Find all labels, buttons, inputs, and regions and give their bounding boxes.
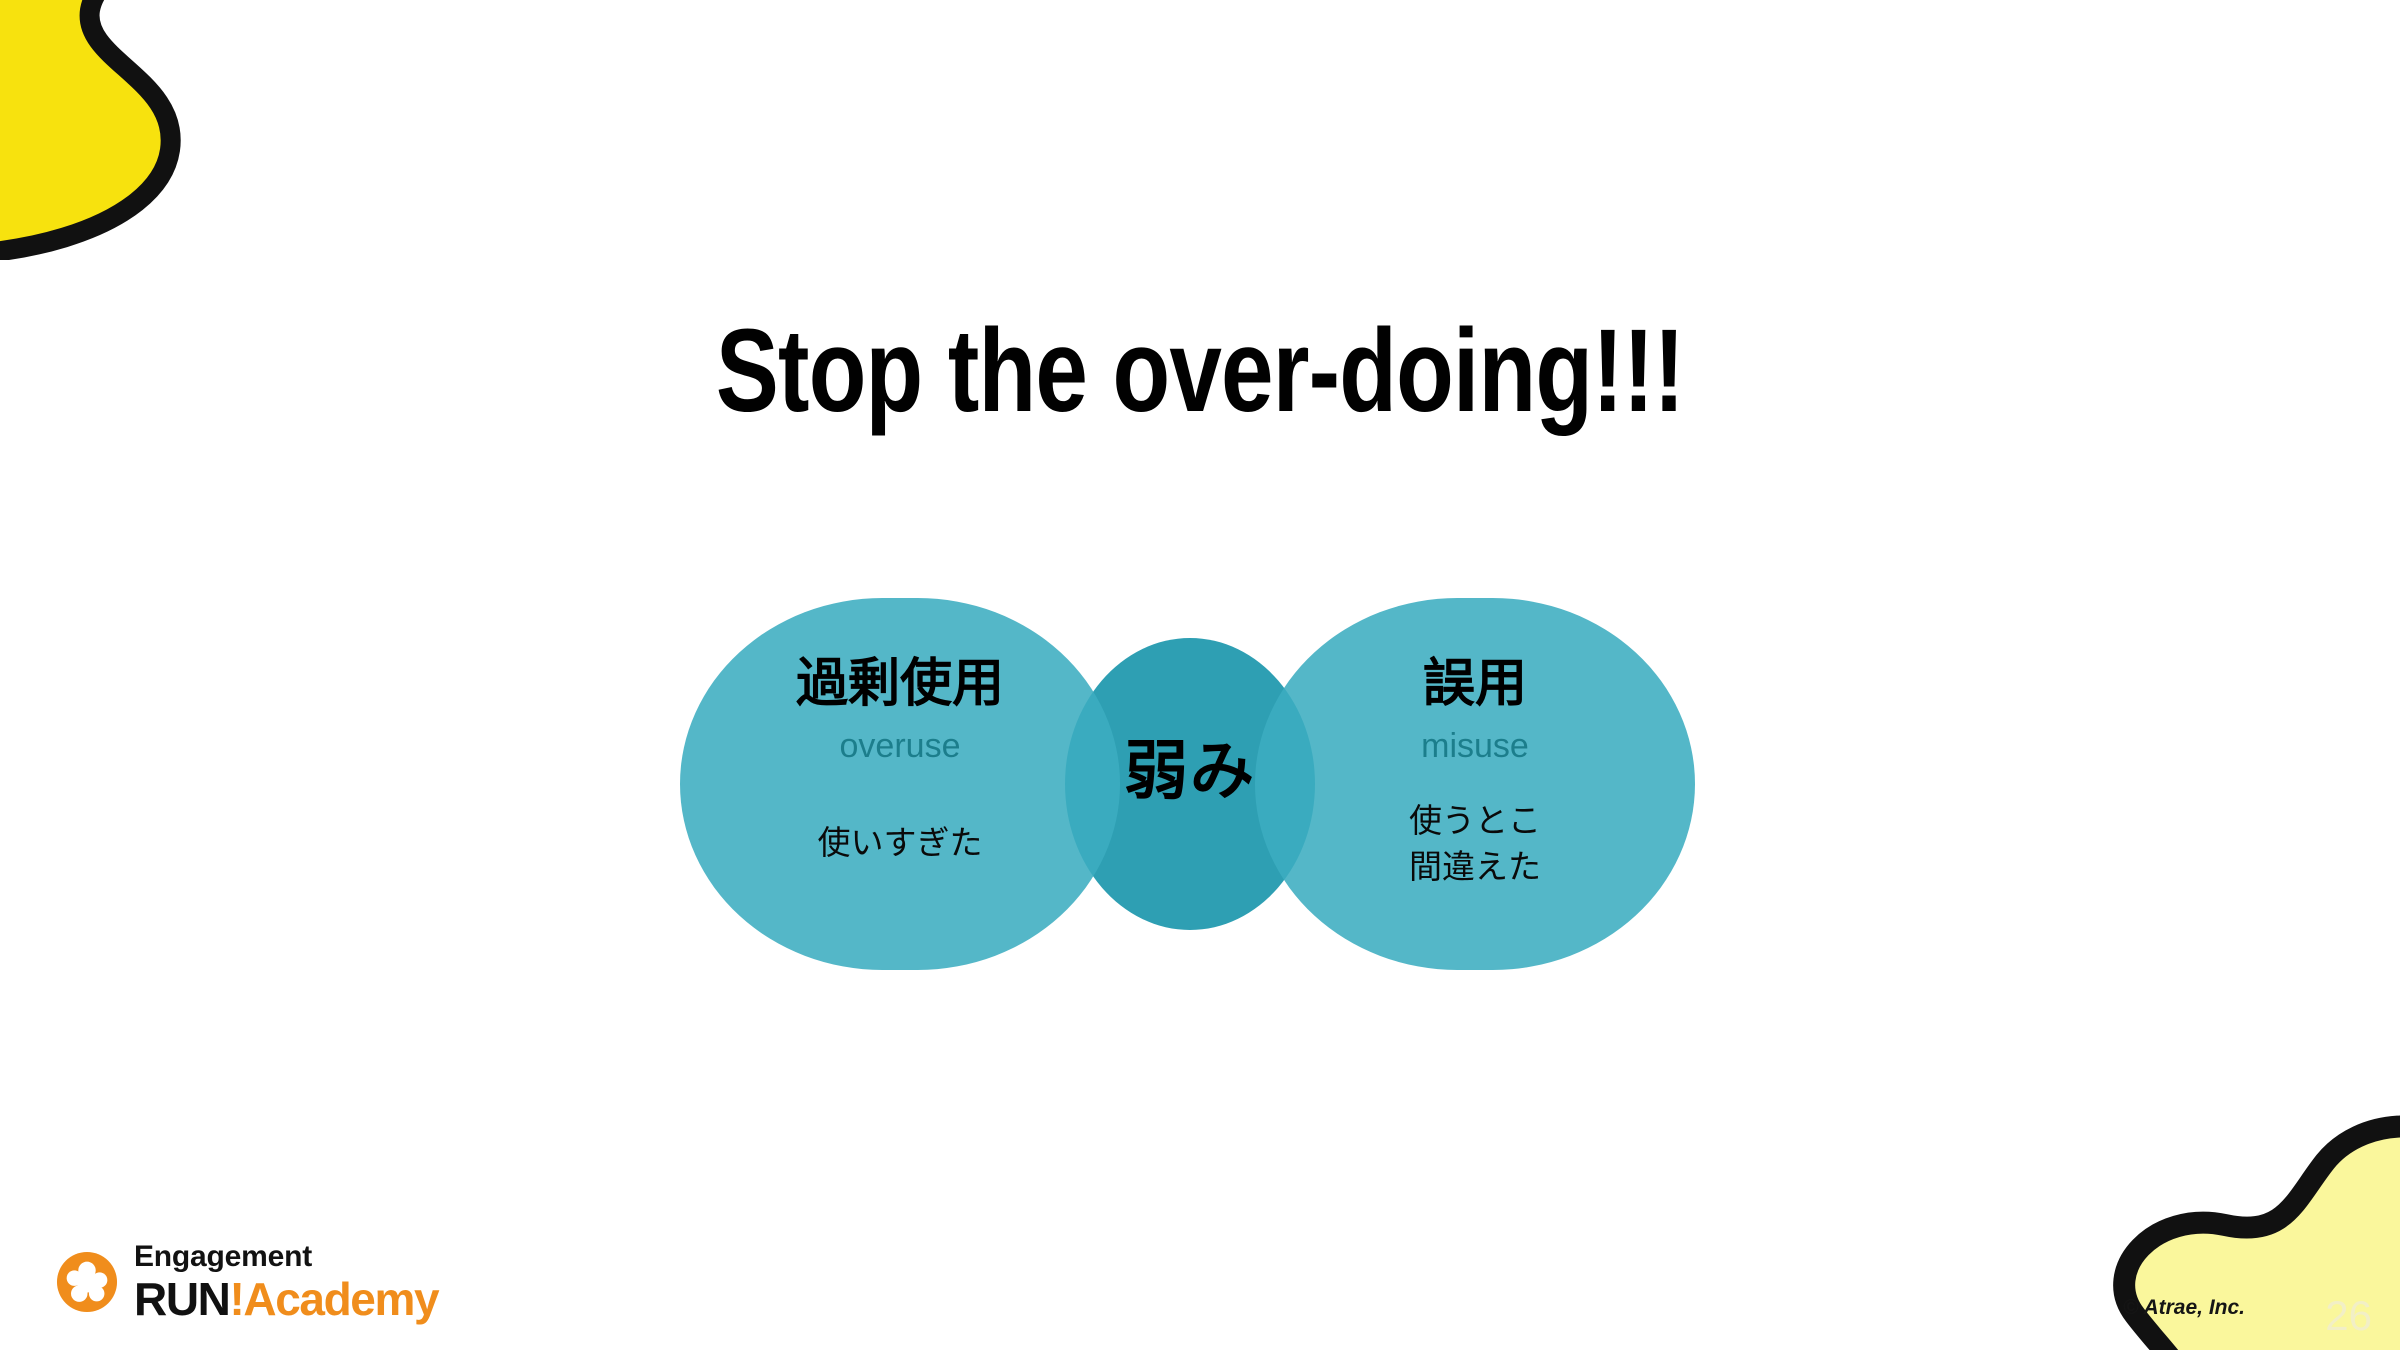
brand-logo-bang: ! — [229, 1273, 243, 1325]
flower-mark-icon — [56, 1251, 118, 1313]
brand-logo-run-text: RUN — [134, 1273, 229, 1325]
brand-logo: Engagement RUN!Academy — [56, 1242, 438, 1322]
brand-logo-academy-text: Academy — [243, 1273, 438, 1325]
page-number: 26 — [2325, 1292, 2372, 1340]
decorative-blob-top-left — [0, 0, 290, 260]
slide-root: Stop the over-doing!!! 過剰使用 overuse 使いすぎ… — [0, 0, 2400, 1350]
venn-left-subtitle: overuse — [680, 726, 1120, 767]
page-title: Stop the over-doing!!! — [240, 303, 2160, 439]
venn-left-body: 使いすぎた — [680, 820, 1120, 866]
venn-right-heading: 誤用 — [1255, 656, 1695, 713]
brand-logo-wordmark: Engagement RUN!Academy — [134, 1242, 438, 1322]
venn-right-body-line1: 使うとこ — [1255, 798, 1695, 844]
venn-right-body-line2: 間違えた — [1255, 844, 1695, 890]
venn-left-heading: 過剰使用 — [680, 656, 1120, 713]
venn-right-body: 使うとこ 間違えた — [1255, 798, 1695, 889]
brand-logo-run-academy: RUN!Academy — [134, 1276, 438, 1322]
brand-logo-engagement: Engagement — [134, 1242, 438, 1272]
venn-diagram: 過剰使用 overuse 使いすぎた 弱み 誤用 misuse 使うとこ 間違え… — [680, 598, 1695, 970]
venn-right-subtitle: misuse — [1255, 726, 1695, 767]
copyright-notice: © Atrae, Inc. — [2123, 1296, 2245, 1320]
